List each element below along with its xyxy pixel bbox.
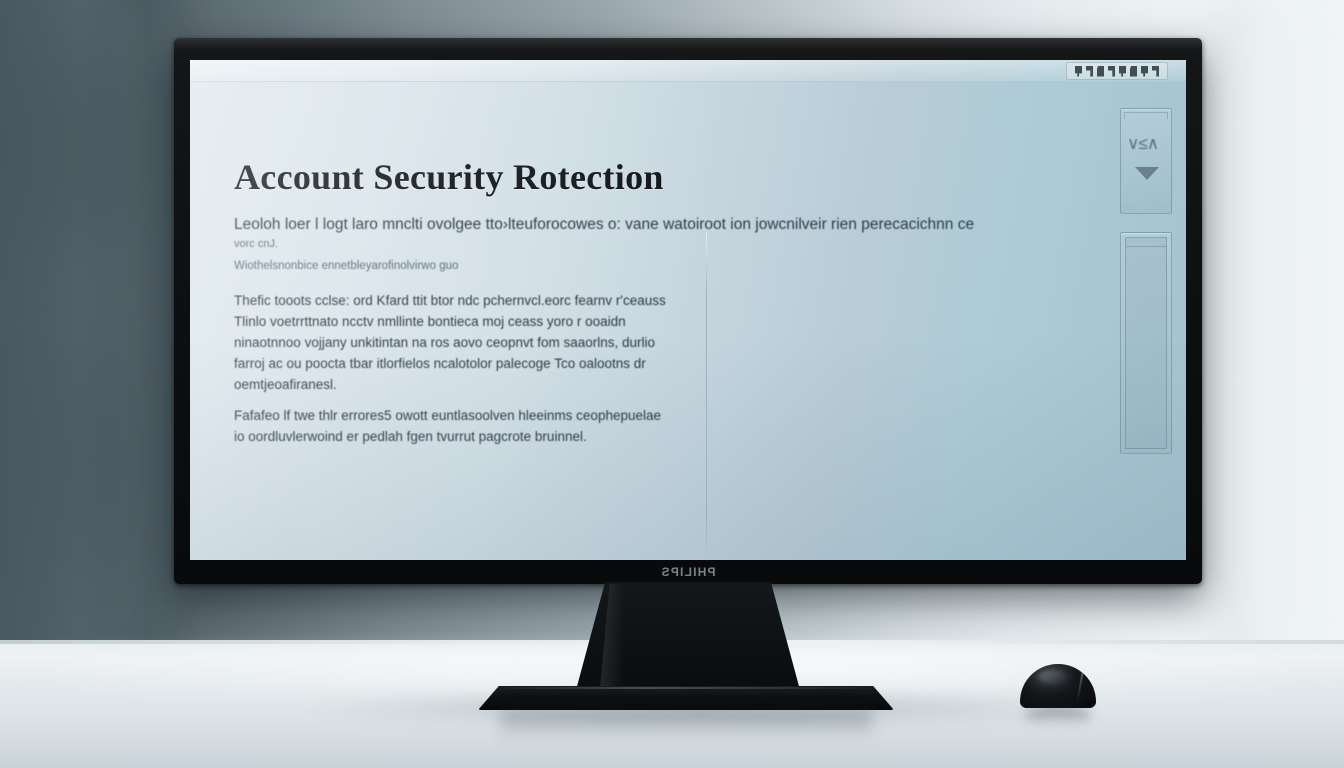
glyph-icon-6[interactable] [1130,66,1137,77]
curtain-streak-3 [130,0,170,660]
curtain-streak-1 [10,0,70,660]
glyph-icon-4[interactable] [1108,66,1115,77]
window-light-streak-2 [1280,0,1344,660]
lead-line-1: Leoloh loer l logt laro mnclti ovolgee t… [234,215,1024,235]
glyph-icon-8[interactable] [1152,66,1159,77]
body-paragraph-2: Fafafeo lf twe thlr errores5 owott euntl… [234,405,674,447]
monitor-screen: Account Security Rotection Leoloh loer l… [190,60,1186,560]
glyph-icon-7[interactable] [1141,66,1148,77]
sidebar-card-bottom[interactable] [1120,232,1172,454]
column-divider [706,232,707,560]
sidebar-card-top[interactable]: ∨≤∧ [1120,108,1172,214]
card-bottom-inner [1125,237,1167,449]
scribble-glyph-icon: ∨≤∧ [1127,133,1167,155]
scene-root: Account Security Rotection Leoloh loer l… [0,0,1344,768]
page-lead: Leoloh loer l logt laro mnclti ovolgee t… [234,215,1024,253]
stand-reflection [500,710,872,740]
stand-base-highlight [486,687,886,689]
glyph-icon-3[interactable] [1097,66,1104,77]
monitor-stand-base [478,686,894,710]
window-light-streak-1 [1215,0,1265,660]
page-content: Account Security Rotection Leoloh loer l… [190,82,1186,560]
chevron-down-icon[interactable] [1135,167,1159,180]
glyph-icon-1[interactable] [1075,66,1082,77]
glyph-icon-5[interactable] [1119,66,1126,77]
glyph-icon-2[interactable] [1086,66,1093,77]
card-bottom-header [1126,238,1166,247]
monitor-brand-label: PHILIPS [174,565,1202,579]
body-paragraph-1: Thefic tooots cclse: ord Kfard ttit btor… [234,290,674,395]
browser-tabstrip[interactable] [1066,62,1168,80]
mouse-reflection [1024,706,1092,726]
lead-line-2: vorc cnJ. [234,235,1024,253]
curtain-streak-2 [78,0,124,660]
page-title: Account Security Rotection [234,156,664,198]
browser-toolbar[interactable] [190,60,1186,82]
bezel-gloss [174,38,1202,50]
monitor-bezel: Account Security Rotection Leoloh loer l… [174,38,1202,584]
card-top-header [1124,112,1168,119]
mouse-highlight [1038,670,1068,684]
page-subnote: Wiothelsnonbice ennetbleyarofinolvirwo g… [234,260,458,272]
